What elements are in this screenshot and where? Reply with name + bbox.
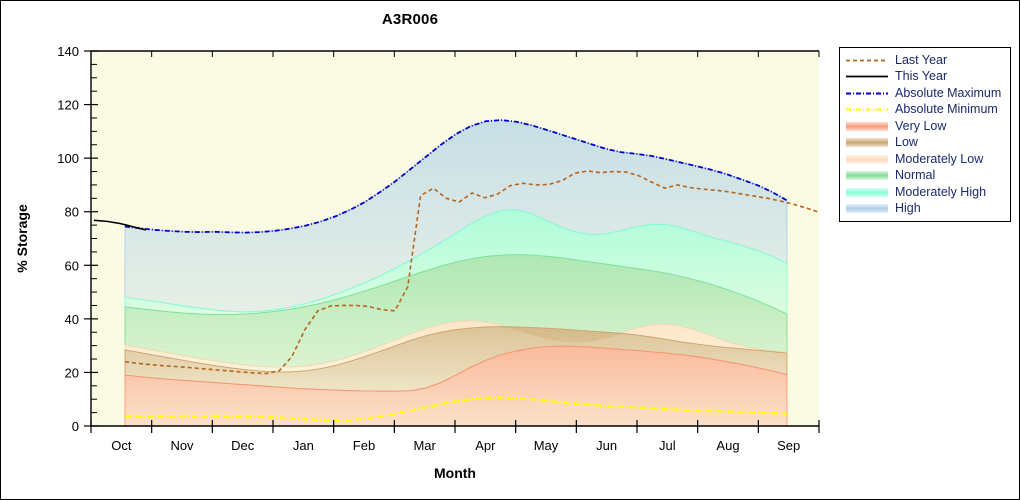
legend-item-label: Moderately High (895, 186, 986, 199)
legend-key-icon (846, 121, 888, 132)
x-tick-label: Feb (353, 438, 375, 453)
x-tick-label: Mar (413, 438, 436, 453)
legend-key-icon (846, 203, 888, 214)
legend-item-last-year[interactable]: Last Year (840, 52, 1010, 69)
x-tick-label: Sep (777, 438, 800, 453)
legend-key-icon (846, 170, 888, 181)
legend-item-low[interactable]: Low (840, 135, 1010, 152)
legend-item-normal[interactable]: Normal (840, 168, 1010, 185)
x-tick-label: Apr (475, 438, 496, 453)
chart-window: A3R006 020406080100120140OctNovDecJanFeb… (0, 0, 1020, 500)
legend-item-very-low[interactable]: Very Low (840, 118, 1010, 135)
legend-key-icon (846, 187, 888, 198)
legend-key-icon (846, 137, 888, 148)
x-tick-label: Jun (596, 438, 617, 453)
legend-item-absolute-minimum[interactable]: Absolute Minimum (840, 102, 1010, 119)
legend-item-label: This Year (895, 70, 947, 83)
chart-plot-area: 020406080100120140OctNovDecJanFebMarAprM… (1, 1, 839, 499)
legend-item-label: Absolute Maximum (895, 87, 1001, 100)
legend-item-label: Absolute Minimum (895, 103, 998, 116)
legend-key-icon (846, 55, 888, 66)
legend-item-label: Moderately Low (895, 153, 983, 166)
x-tick-label: Jan (293, 438, 314, 453)
x-tick-label: Dec (231, 438, 255, 453)
legend-item-absolute-maximum[interactable]: Absolute Maximum (840, 85, 1010, 102)
x-tick-label: Oct (111, 438, 132, 453)
legend-item-moderately-high[interactable]: Moderately High (840, 184, 1010, 201)
legend-item-label: Last Year (895, 54, 947, 67)
y-axis-label: % Storage (14, 204, 30, 273)
x-tick-label: May (534, 438, 559, 453)
x-tick-label: Nov (170, 438, 194, 453)
legend-key-icon (846, 104, 888, 115)
legend-item-moderately-low[interactable]: Moderately Low (840, 151, 1010, 168)
legend-key-icon (846, 88, 888, 99)
y-tick-label: 80 (65, 205, 79, 220)
y-tick-label: 140 (57, 44, 79, 59)
y-tick-label: 40 (65, 312, 79, 327)
legend-item-high[interactable]: High (840, 201, 1010, 218)
y-tick-label: 0 (72, 419, 79, 434)
x-tick-label: Jul (659, 438, 676, 453)
legend-item-this-year[interactable]: This Year (840, 69, 1010, 86)
legend-key-icon (846, 71, 888, 82)
y-tick-label: 100 (57, 151, 79, 166)
legend-item-label: Very Low (895, 120, 946, 133)
x-tick-label: Aug (716, 438, 739, 453)
y-tick-label: 120 (57, 98, 79, 113)
legend-item-label: Normal (895, 169, 935, 182)
legend-key-icon (846, 154, 888, 165)
x-axis-label: Month (434, 465, 476, 481)
legend-item-label: Low (895, 136, 918, 149)
chart-legend: Last YearThis YearAbsolute MaximumAbsolu… (839, 47, 1011, 222)
y-tick-label: 60 (65, 258, 79, 273)
y-tick-label: 20 (65, 365, 79, 380)
legend-item-label: High (895, 202, 921, 215)
